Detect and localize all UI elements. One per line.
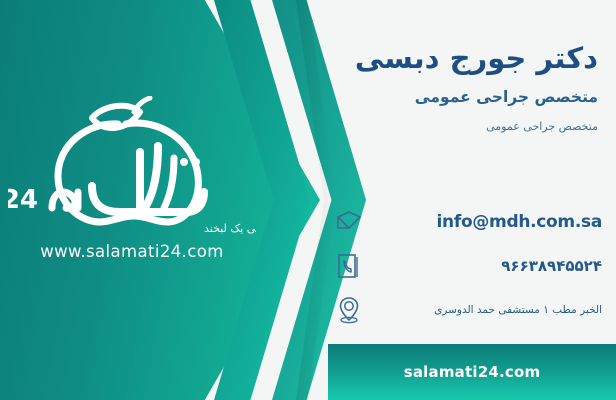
phone-book-icon [334, 249, 364, 283]
apple-leaf-logo-icon: 24 به راحتی یک لبخند [8, 96, 256, 246]
specialty-sub: متخصص جراحی عمومی [320, 106, 598, 133]
doctor-name: دکتر جورج دبسی [320, 0, 598, 76]
email-value: info@mdh.com.sa [374, 212, 602, 232]
phone-value: ۹۶۶۳۸۹۴۵۵۲۴ [374, 257, 602, 275]
bottom-bar: salamati24.com [328, 344, 616, 400]
logo-url: www.salamati24.com [8, 242, 256, 261]
contact-list: info@mdh.com.sa ۹۶۶۳۸۹۴۵۵۲۴ الخبر مطب ۱ … [334, 200, 602, 332]
address-value: الخبر مطب ۱ مستشفی حمد الدوسری [374, 304, 602, 316]
map-pin-icon [334, 293, 364, 327]
contact-row-phone[interactable]: ۹۶۶۳۸۹۴۵۵۲۴ [334, 244, 602, 288]
logo-number: 24 [8, 185, 38, 215]
contact-row-email[interactable]: info@mdh.com.sa [334, 200, 602, 244]
envelope-icon [334, 205, 364, 239]
contact-row-address[interactable]: الخبر مطب ۱ مستشفی حمد الدوسری [334, 288, 602, 332]
business-card: 24 به راحتی یک لبخند www.salamati24.com … [0, 0, 616, 400]
footer-site-url[interactable]: salamati24.com [404, 363, 541, 381]
specialty-main: متخصص جراحی عمومی [320, 76, 598, 106]
logo-tagline-text: به راحتی یک لبخند [204, 222, 256, 235]
brand-logo: 24 به راحتی یک لبخند www.salamati24.com [8, 96, 256, 276]
